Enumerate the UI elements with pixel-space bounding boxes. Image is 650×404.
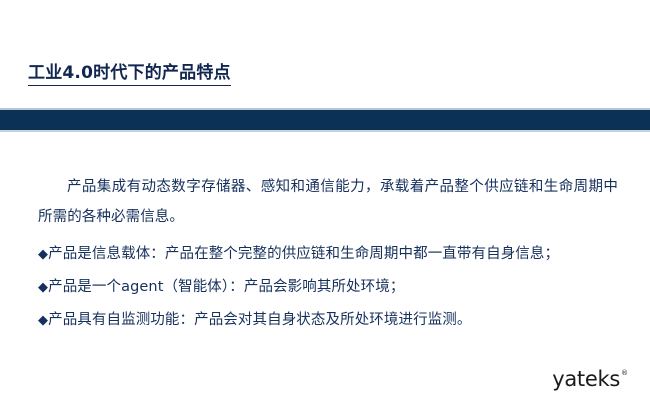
brand-logo: yateks ® [552,368,628,390]
list-item-label: 产品是信息载体：产品在整个完整的供应链和生命周期中都一直带有自身信息； [48,238,559,270]
logo-wordmark: yateks [552,368,620,390]
header-divider-bar [0,110,650,130]
list-item: ◆ 产品是一个agent（智能体）：产品会影响其所处环境； [38,271,618,304]
page-title: 工业4.0时代下的产品特点 [28,62,231,86]
divider-bar-bottom-edge [0,130,650,132]
slide-canvas: 工业4.0时代下的产品特点 产品集成有动态数字存储器、感知和通信能力，承载着产品… [0,0,650,404]
title-block: 工业4.0时代下的产品特点 [28,62,231,86]
intro-paragraph: 产品集成有动态数字存储器、感知和通信能力，承载着产品整个供应链和生命周期中所需的… [38,172,618,232]
list-item: ◆ 产品具有自监测功能：产品会对其自身状态及所处环境进行监测。 [38,304,618,337]
list-item-label: 产品具有自监测功能：产品会对其自身状态及所处环境进行监测。 [48,304,471,336]
bullet-list: ◆ 产品是信息载体：产品在整个完整的供应链和生命周期中都一直带有自身信息； ◆ … [38,238,618,337]
list-item: ◆ 产品是信息载体：产品在整个完整的供应链和生命周期中都一直带有自身信息； [38,238,618,271]
registered-trademark-icon: ® [621,369,628,378]
diamond-bullet-icon: ◆ [38,305,48,337]
diamond-bullet-icon: ◆ [38,272,48,304]
body-content: 产品集成有动态数字存储器、感知和通信能力，承载着产品整个供应链和生命周期中所需的… [38,172,618,337]
list-item-label: 产品是一个agent（智能体）：产品会影响其所处环境； [48,271,404,303]
diamond-bullet-icon: ◆ [38,239,48,271]
